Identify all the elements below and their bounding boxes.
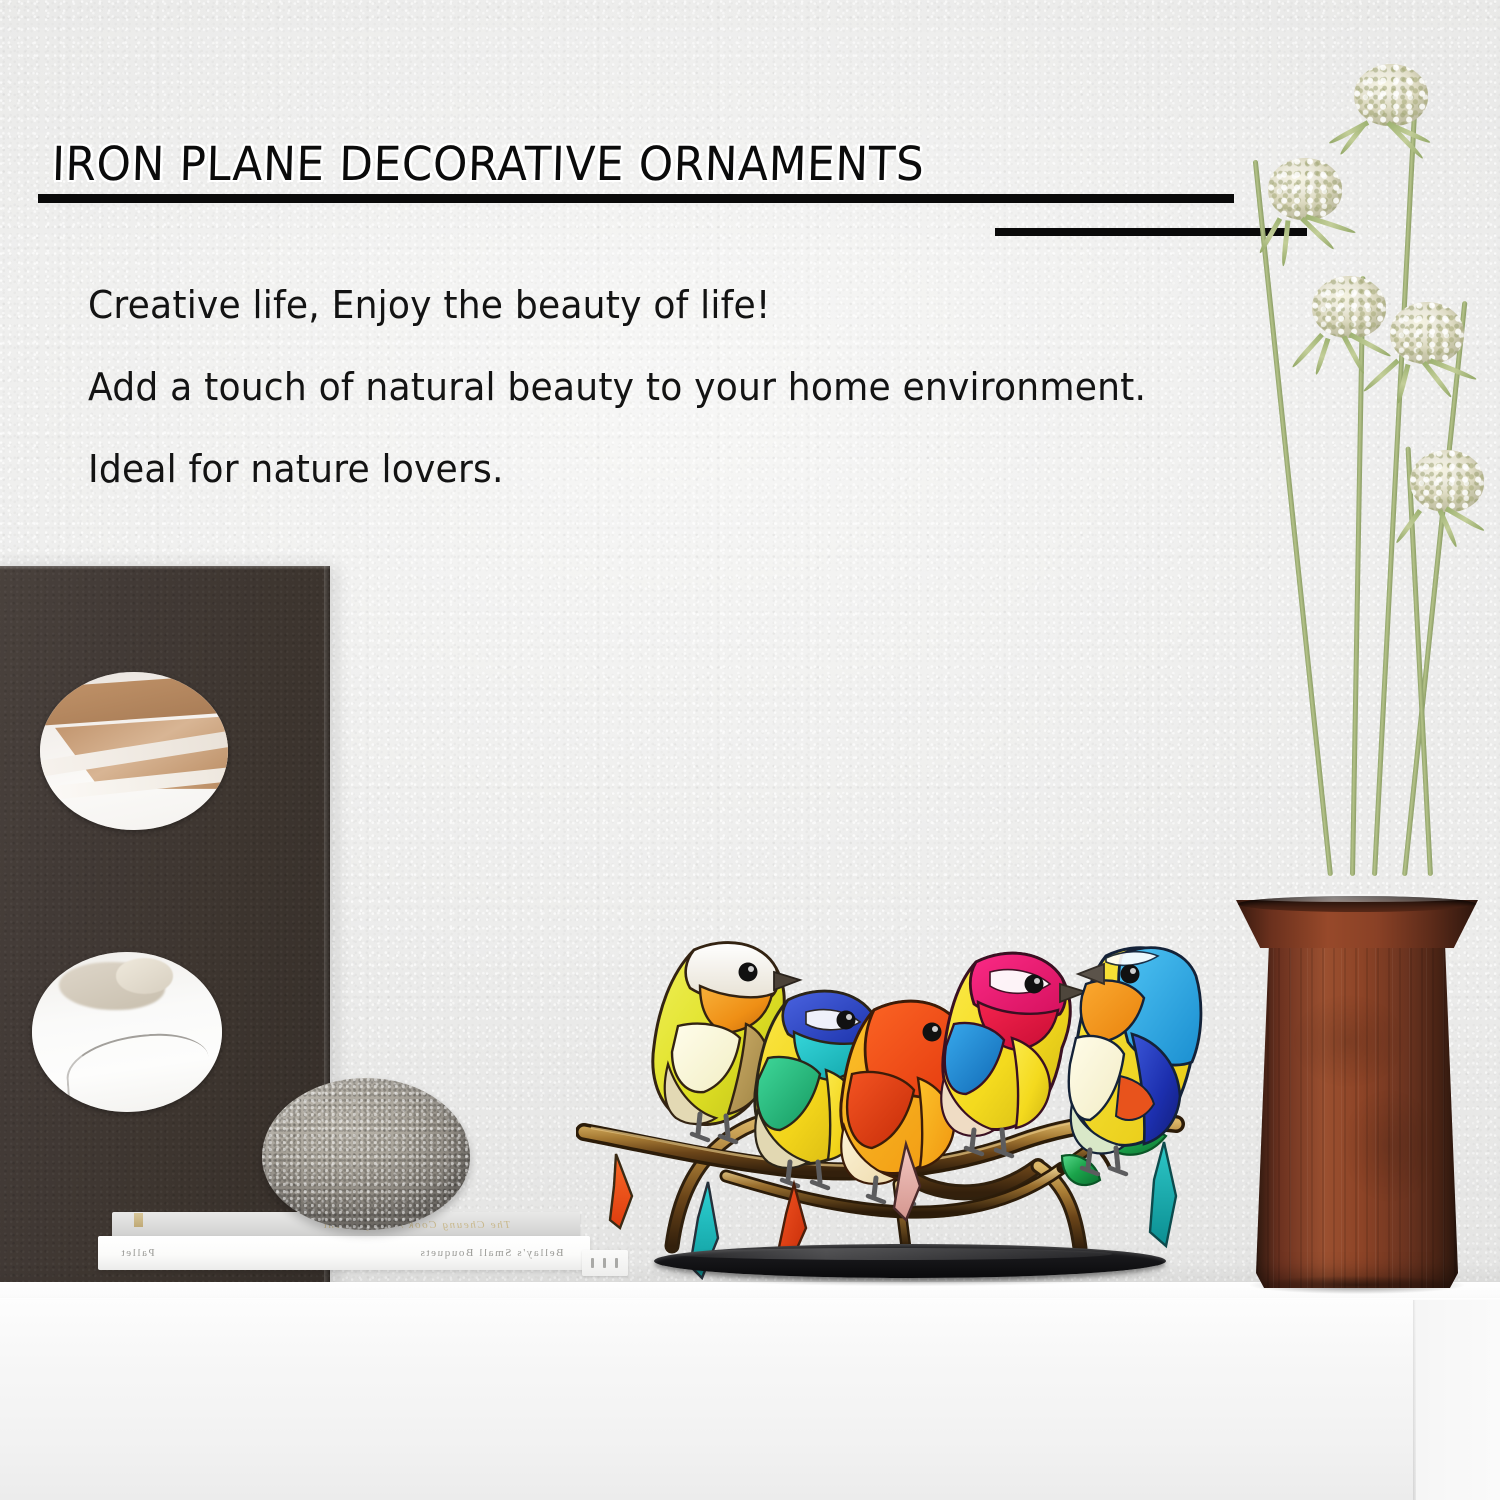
- title-underline: [38, 194, 1234, 203]
- board-top-highlight: [0, 566, 330, 570]
- mirror-circle-lower: [32, 952, 222, 1112]
- marketing-copy: Creative life, Enjoy the beauty of life!…: [88, 283, 1202, 529]
- list-item: [1069, 948, 1201, 1246]
- bloom-bract: [1386, 121, 1424, 160]
- bloom-bract: [1394, 509, 1422, 544]
- list-item: Pallet Bellay's Small Bouquets: [98, 1236, 590, 1270]
- flower-stem: [1253, 160, 1333, 877]
- bloom-bract: [1396, 364, 1411, 404]
- vase-wood-grain: [1256, 914, 1458, 1288]
- flower-bloom: [1374, 302, 1478, 394]
- bloom-bract: [1281, 220, 1291, 266]
- copy-line-1: Creative life, Enjoy the beauty of life!: [88, 283, 1146, 327]
- bloom-head: [1268, 158, 1342, 220]
- stone-texture: [262, 1078, 470, 1230]
- mirror-circle-upper: [40, 672, 228, 830]
- vase-rim-highlight: [1240, 894, 1474, 902]
- copy-line-3: Ideal for nature lovers.: [88, 447, 1146, 491]
- wooden-vase: [1234, 852, 1480, 1288]
- bird-ornament-product: [576, 928, 1224, 1300]
- copy-line-2: Add a touch of natural beauty to your ho…: [88, 365, 1146, 409]
- flower-bloom: [1338, 64, 1442, 156]
- book-bookmark: [134, 1213, 143, 1227]
- product-marketing-image: IRON PLANE DECORATIVE ORNAMENTS Creative…: [0, 0, 1500, 1500]
- ornament-base-gloss: [672, 1248, 1112, 1260]
- bloom-head: [1354, 64, 1428, 126]
- bloom-bract: [1258, 217, 1282, 254]
- bloom-head: [1390, 302, 1464, 364]
- page-title: IRON PLANE DECORATIVE ORNAMENTS: [51, 137, 925, 192]
- dried-flower-arrangement: [1250, 46, 1500, 876]
- vase-base-shadow: [1250, 1276, 1464, 1294]
- shelf-side-panel: [1416, 1300, 1500, 1500]
- bloom-head: [1410, 450, 1484, 512]
- decorative-stone: [262, 1078, 470, 1230]
- flower-bloom: [1394, 450, 1498, 542]
- mirror-lower-object-2: [116, 958, 173, 993]
- shelf-front-face: [0, 1300, 1500, 1500]
- flower-bloom: [1252, 158, 1356, 250]
- vase-body: [1256, 914, 1458, 1288]
- book-spine-text-lower: Bellay's Small Bouquets: [419, 1247, 564, 1259]
- book-spine-label: Pallet: [120, 1247, 155, 1259]
